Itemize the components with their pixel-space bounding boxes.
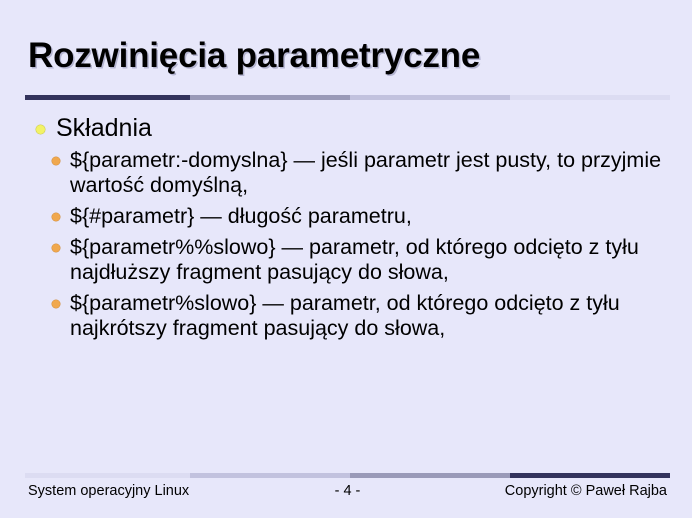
list-item-text: ${parametr%%slowo} — parametr, od któreg… (70, 235, 668, 285)
orange-dot-icon (52, 300, 60, 308)
slide: Rozwinięcia parametryczne Składnia ${par… (0, 0, 692, 518)
rule-segment-4 (510, 473, 670, 478)
orange-dot-icon (52, 213, 60, 221)
slide-body: Składnia ${parametr:-domyslna} — jeśli p… (28, 114, 668, 347)
footer-copyright: Copyright © Paweł Rajba (505, 483, 667, 499)
list-item: ${parametr:-domyslna} — jeśli parametr j… (42, 148, 668, 198)
rule-segment-1 (25, 473, 190, 478)
list-item-text: ${#parametr} — długość parametru, (70, 204, 668, 229)
list-item-text: ${parametr%slowo} — parametr, od którego… (70, 291, 668, 341)
rule-segment-4 (510, 95, 670, 100)
yellow-dot-icon (36, 125, 45, 134)
orange-dot-icon (52, 244, 60, 252)
bullet-level1-label: Składnia (56, 114, 152, 142)
list-item: ${#parametr} — długość parametru, (42, 204, 668, 229)
rule-segment-3 (350, 95, 510, 100)
bullet-level1-skladnia: Składnia (28, 114, 668, 144)
slide-footer: System operacyjny Linux - 4 - Copyright … (25, 483, 670, 505)
rule-segment-3 (350, 473, 510, 478)
list-item-text: ${parametr:-domyslna} — jeśli parametr j… (70, 148, 668, 198)
page-title: Rozwinięcia parametryczne (28, 36, 668, 76)
list-item: ${parametr%slowo} — parametr, od którego… (42, 291, 668, 341)
footer-divider-rule (25, 473, 670, 478)
rule-segment-2 (190, 473, 350, 478)
orange-dot-icon (52, 157, 60, 165)
list-item: ${parametr%%slowo} — parametr, od któreg… (42, 235, 668, 285)
rule-segment-2 (190, 95, 350, 100)
rule-segment-1 (25, 95, 190, 100)
bullet-level2-list: ${parametr:-domyslna} — jeśli parametr j… (28, 148, 668, 342)
title-divider-rule (25, 95, 670, 100)
